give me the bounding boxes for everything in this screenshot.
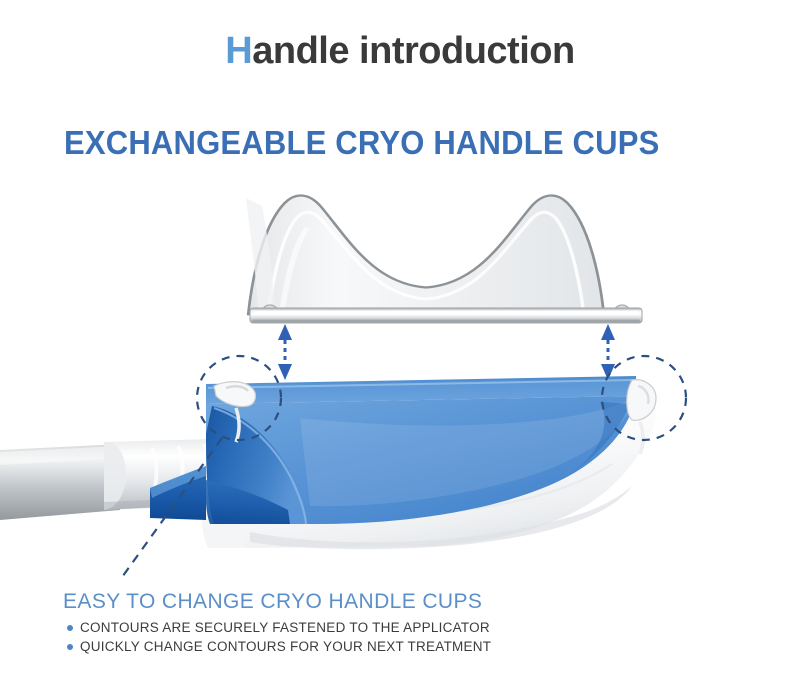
caption-block: EASY TO CHANGE CRYO HANDLE CUPS CONTOURS… xyxy=(63,590,583,656)
bullet-dot-icon xyxy=(67,625,73,631)
page-root: Handle introduction EXCHANGEABLE CRYO HA… xyxy=(0,0,800,680)
attach-arrow-right xyxy=(601,324,615,380)
section-headline: EXCHANGEABLE CRYO HANDLE CUPS xyxy=(64,124,659,162)
chrome-mounting-bar xyxy=(250,308,642,323)
caption-bullet-list: CONTOURS ARE SECURELY FASTENED TO THE AP… xyxy=(63,618,583,656)
page-title-accent-letter: H xyxy=(225,30,252,72)
list-item: CONTOURS ARE SECURELY FASTENED TO THE AP… xyxy=(63,618,583,637)
attach-arrow-left xyxy=(278,324,292,380)
cryo-handle-illustration xyxy=(0,180,800,580)
list-item-label: QUICKLY CHANGE CONTOURS FOR YOUR NEXT TR… xyxy=(80,637,491,656)
page-title-rest: andle introduction xyxy=(252,30,574,72)
list-item-label: CONTOURS ARE SECURELY FASTENED TO THE AP… xyxy=(80,618,490,637)
caption-heading: EASY TO CHANGE CRYO HANDLE CUPS xyxy=(63,590,583,614)
detachable-cryo-cup xyxy=(246,195,630,319)
list-item: QUICKLY CHANGE CONTOURS FOR YOUR NEXT TR… xyxy=(63,637,583,656)
bullet-dot-icon xyxy=(67,644,73,650)
page-title: Handle introduction xyxy=(0,30,800,73)
